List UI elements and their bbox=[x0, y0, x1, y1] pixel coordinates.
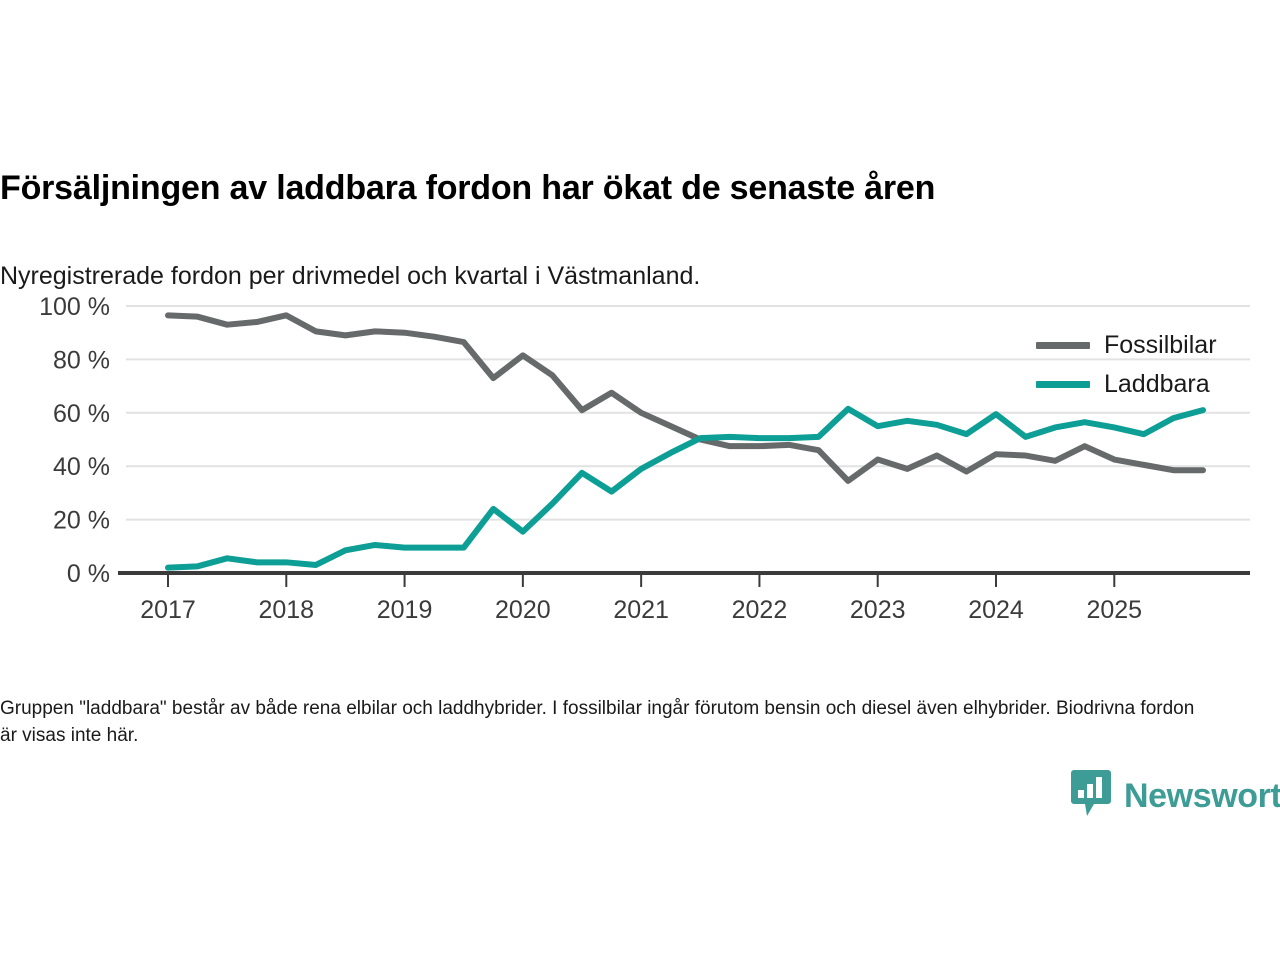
legend-label-fossilbilar: Fossilbilar bbox=[1104, 333, 1217, 358]
x-axis-tick-label: 2019 bbox=[377, 596, 433, 624]
y-axis-tick-label: 80 % bbox=[53, 346, 110, 374]
legend-swatch-laddbara bbox=[1036, 381, 1090, 388]
y-axis-tick-label: 0 % bbox=[67, 560, 110, 588]
x-axis-tick-label: 2017 bbox=[140, 596, 196, 624]
newsworthy-wordmark: Newsworthy bbox=[1124, 779, 1280, 813]
chart-page: Försäljningen av laddbara fordon har öka… bbox=[0, 0, 1280, 960]
legend-item-laddbara: Laddbara bbox=[1036, 365, 1276, 404]
chart-legend: Fossilbilar Laddbara bbox=[1036, 326, 1276, 404]
x-axis-tick-label: 2020 bbox=[495, 596, 551, 624]
bar-chart-speech-bubble-icon bbox=[1070, 768, 1112, 823]
x-axis-tick-label: 2024 bbox=[968, 596, 1024, 624]
legend-label-laddbara: Laddbara bbox=[1104, 372, 1210, 397]
legend-item-fossilbilar: Fossilbilar bbox=[1036, 326, 1276, 365]
x-axis-tick-label: 2025 bbox=[1086, 596, 1142, 624]
y-axis-tick-label: 20 % bbox=[53, 507, 110, 535]
y-axis-tick-label: 60 % bbox=[53, 400, 110, 428]
legend-swatch-fossilbilar bbox=[1036, 342, 1090, 349]
x-axis-tick-label: 2023 bbox=[850, 596, 906, 624]
newsworthy-logo: Newsworthy bbox=[1070, 768, 1280, 823]
x-axis-tick-label: 2021 bbox=[613, 596, 669, 624]
page-title: Försäljningen av laddbara fordon har öka… bbox=[0, 168, 1270, 208]
x-axis-tick-label: 2018 bbox=[258, 596, 314, 624]
y-axis-tick-label: 100 % bbox=[39, 293, 110, 321]
y-axis-tick-label: 40 % bbox=[53, 453, 110, 481]
x-axis-tick-label: 2022 bbox=[732, 596, 788, 624]
chart-footnote: Gruppen "laddbara" består av både rena e… bbox=[0, 695, 1215, 749]
